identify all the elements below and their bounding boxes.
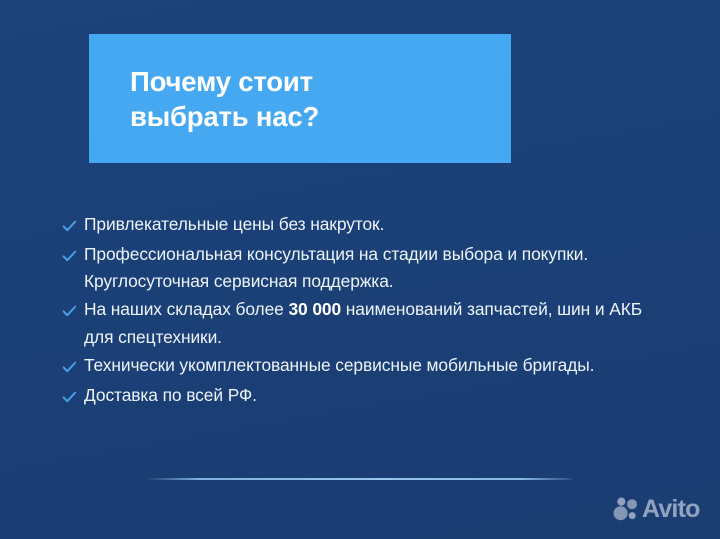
list-item-text-prefix: Технически укомплектованные сервисные мо… (84, 355, 594, 375)
check-icon (62, 211, 84, 240)
title-line-2: выбрать нас? (89, 99, 511, 134)
list-item-text: Технически укомплектованные сервисные мо… (84, 352, 594, 379)
title-line-1: Почему стоит (89, 64, 511, 99)
avito-watermark: Avito (612, 496, 700, 523)
title-banner: Почему стоит выбрать нас? (89, 34, 511, 163)
divider (148, 478, 572, 480)
check-icon (62, 382, 84, 411)
check-icon (62, 296, 84, 325)
check-icon (62, 241, 84, 270)
list-item: Профессиональная консультация на стадии … (62, 241, 672, 295)
avito-logo-icon (612, 496, 639, 523)
list-item: На наших складах более 30 000 наименован… (62, 296, 672, 350)
list-item-text-prefix: Привлекательные цены без накруток. (84, 214, 384, 234)
list-item-text-prefix: На наших складах более (84, 299, 288, 319)
list-item-text-prefix: Доставка по всей РФ. (84, 385, 257, 405)
list-item-text: Привлекательные цены без накруток. (84, 211, 384, 238)
avito-logo-text: Avito (642, 496, 700, 523)
list-item-text-highlight: 30 000 (288, 299, 341, 319)
list-item: Привлекательные цены без накруток. (62, 211, 672, 240)
benefits-list: Привлекательные цены без накруток. Профе… (62, 211, 672, 412)
list-item-text: Профессиональная консультация на стадии … (84, 241, 659, 295)
list-item-text: Доставка по всей РФ. (84, 382, 257, 409)
list-item: Доставка по всей РФ. (62, 382, 672, 411)
slide-canvas: Почему стоит выбрать нас? Привлекательны… (0, 0, 720, 539)
check-icon (62, 352, 84, 381)
list-item: Технически укомплектованные сервисные мо… (62, 352, 672, 381)
list-item-text-prefix: Профессиональная консультация на стадии … (84, 244, 588, 291)
list-item-text: На наших складах более 30 000 наименован… (84, 296, 659, 350)
